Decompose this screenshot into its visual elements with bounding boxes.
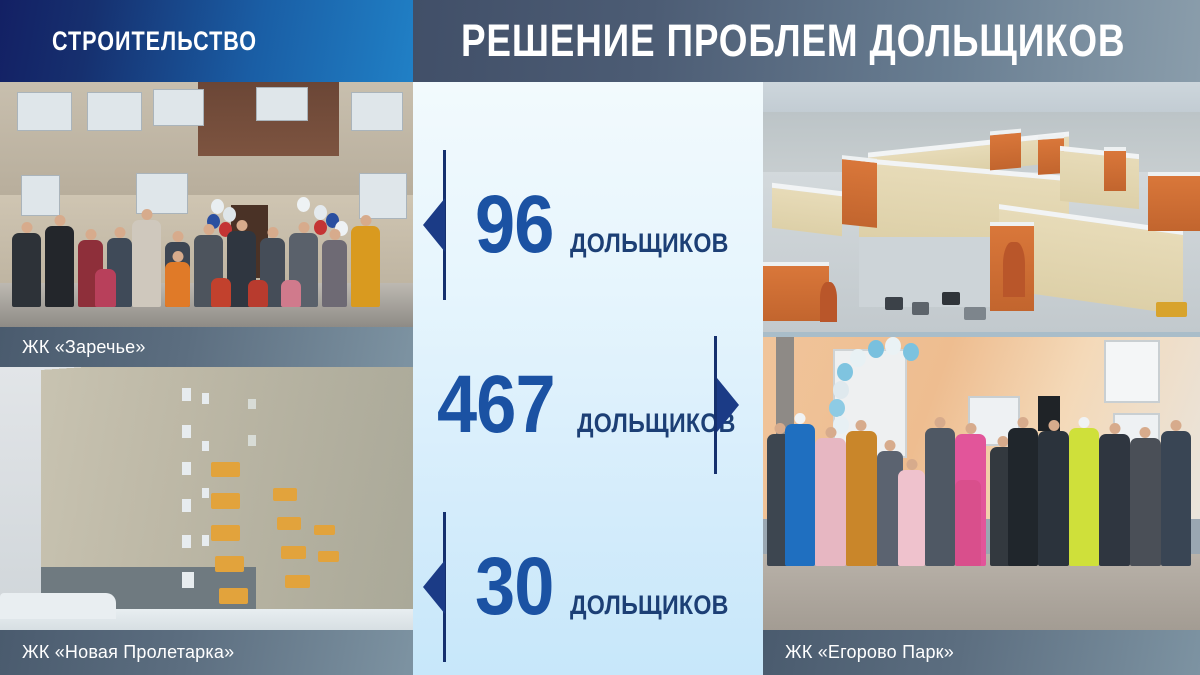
photo-divider-strip bbox=[763, 332, 1200, 337]
photo-egorovo-park bbox=[763, 337, 1200, 630]
caption-novaya-proletarka: ЖК «Новая Пролетарка» bbox=[0, 630, 413, 675]
photo-egorovo-park-scene bbox=[763, 337, 1200, 630]
header-title-band: РЕШЕНИЕ ПРОБЛЕМ ДОЛЬЩИКОВ bbox=[413, 0, 1200, 82]
arrow-right-icon-467 bbox=[699, 330, 745, 480]
arrow-left-icon-96 bbox=[413, 140, 459, 310]
crowd-figures bbox=[0, 195, 413, 308]
arrow-left-icon-30 bbox=[413, 502, 459, 672]
stat-body-96: 96 дольщиков bbox=[459, 184, 763, 266]
header-category-label: СТРОИТЕЛЬСТВО bbox=[52, 26, 257, 57]
caption-novaya-proletarka-text: ЖК «Новая Пролетарка» bbox=[22, 642, 234, 663]
page-title: РЕШЕНИЕ ПРОБЛЕМ ДОЛЬЩИКОВ bbox=[461, 15, 1125, 67]
caption-zarechye: ЖК «Заречье» bbox=[0, 327, 413, 367]
photo-zarechye-scene bbox=[0, 82, 413, 327]
triangle-left-icon bbox=[423, 560, 445, 614]
stats-panel: 96 дольщиков 467 дольщиков 30 дольщиков bbox=[413, 82, 763, 675]
stat-row-96: 96 дольщиков bbox=[413, 140, 763, 310]
photo-aerial-complex-scene bbox=[763, 82, 1200, 332]
caption-zarechye-text: ЖК «Заречье» bbox=[22, 337, 146, 358]
caption-egorovo-park-text: ЖК «Егорово Парк» bbox=[785, 642, 954, 663]
photo-novaya-proletarka bbox=[0, 367, 413, 630]
stat-value-30: 30 bbox=[475, 546, 554, 628]
stat-value-467: 467 bbox=[437, 364, 555, 446]
stat-row-30: 30 дольщиков bbox=[413, 502, 763, 672]
photo-novaya-proletarka-scene bbox=[0, 367, 413, 630]
crowd-figures bbox=[763, 401, 1200, 565]
stat-row-467: 467 дольщиков bbox=[413, 330, 763, 480]
caption-egorovo-park: ЖК «Егорово Парк» bbox=[763, 630, 1200, 675]
stat-body-30: 30 дольщиков bbox=[459, 546, 763, 628]
stat-unit-96: дольщиков bbox=[570, 228, 729, 259]
triangle-right-icon bbox=[717, 378, 739, 432]
infographic-slide: ЖК «Заречье» bbox=[0, 0, 1200, 675]
header-category-band: СТРОИТЕЛЬСТВО bbox=[0, 0, 413, 82]
triangle-left-icon bbox=[423, 198, 445, 252]
stat-value-96: 96 bbox=[475, 184, 554, 266]
stat-unit-30: дольщиков bbox=[570, 590, 729, 621]
photo-aerial-complex bbox=[763, 82, 1200, 332]
photo-zarechye bbox=[0, 82, 413, 327]
